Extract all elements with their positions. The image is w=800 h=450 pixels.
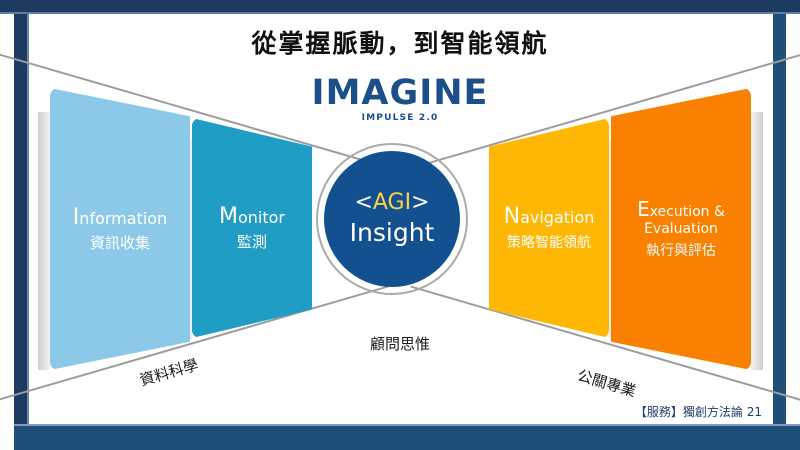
panel-execution[interactable]: Execution & Evaluation 執行與評估 (611, 88, 751, 370)
panel-navigation-chinese: 策略智能領航 (507, 232, 591, 252)
panel-information-english: Information (73, 205, 167, 231)
frame-border-top-highlight (0, 12, 800, 14)
slide-footer: 【服務】獨創方法論 21 (635, 403, 762, 420)
panel-execution-chinese: 執行與評估 (646, 240, 716, 260)
panel-execution-english: Execution & (637, 198, 725, 221)
panel-information-chinese: 資訊收集 (90, 232, 150, 253)
center-acronym: <AGI> (354, 191, 429, 215)
panel-shadow-information (38, 112, 50, 370)
caption-right: 公關專業 (575, 364, 638, 401)
caption-center: 顧問思惟 (0, 333, 800, 354)
panel-monitor[interactable]: Monitor 監測 (192, 118, 312, 338)
slide-canvas: 從掌握脈動，到智能領航 IMAGINE IMPULSE 2.0 Informat… (0, 0, 800, 450)
frame-border-bottom (14, 426, 800, 450)
panel-execution-english-line2: Evaluation (644, 221, 718, 237)
caption-left: 資料科學 (137, 354, 200, 391)
center-label: Insight (350, 218, 435, 247)
page-title: 從掌握脈動，到智能領航 (0, 24, 800, 60)
panel-monitor-english: Monitor (219, 204, 285, 230)
panel-navigation[interactable]: Navigation 策略智能領航 (489, 118, 609, 338)
panel-navigation-english: Navigation (504, 204, 595, 230)
center-circle-agi[interactable]: <AGI> Insight (324, 151, 460, 287)
panel-information[interactable]: Information 資訊收集 (50, 88, 190, 370)
panel-monitor-chinese: 監測 (237, 231, 267, 252)
panel-shadow-execution (751, 112, 763, 370)
